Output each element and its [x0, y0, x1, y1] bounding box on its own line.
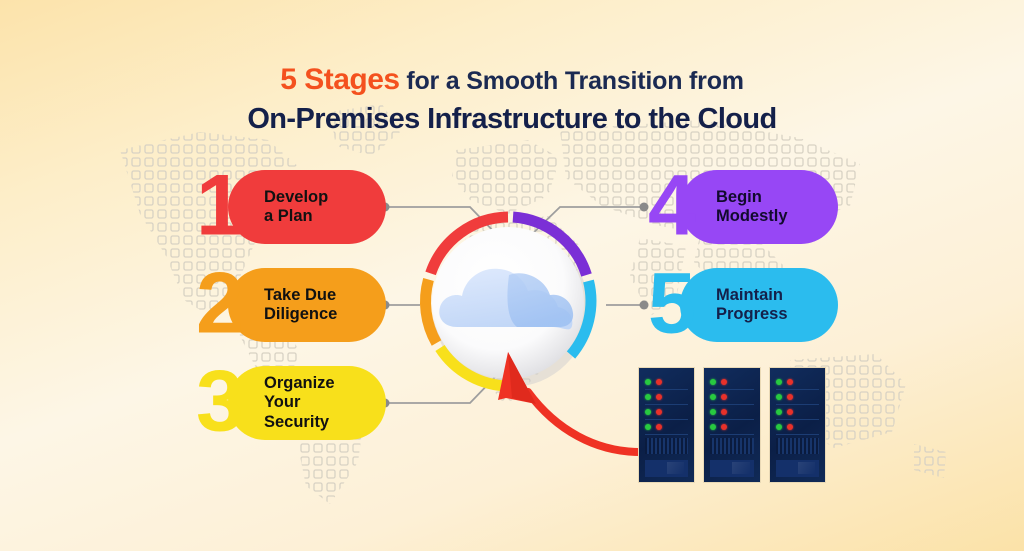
title-line-2: On-Premises Infrastructure to the Cloud	[0, 102, 1024, 137]
led-green-icon	[645, 379, 651, 385]
led-green-icon	[645, 409, 651, 415]
led-red-icon	[656, 424, 662, 430]
rack-vents	[710, 438, 753, 454]
stage-label-1: Develop a Plan	[264, 188, 328, 227]
led-red-icon	[721, 394, 727, 400]
stage-number-2: 2	[196, 260, 240, 346]
rack-vents	[776, 438, 819, 454]
server-rack	[703, 367, 760, 483]
server-racks	[638, 367, 826, 483]
led-green-icon	[776, 379, 782, 385]
stage-item-4[interactable]: 4 Begin Modestly	[648, 170, 838, 244]
page-title: 5 Stages for a Smooth Transition from On…	[0, 62, 1024, 137]
led-green-icon	[710, 409, 716, 415]
led-green-icon	[710, 424, 716, 430]
rack-led-rows	[776, 375, 819, 435]
rack-base	[645, 460, 688, 477]
server-rack	[769, 367, 826, 483]
led-green-icon	[776, 409, 782, 415]
stage-number-3: 3	[196, 358, 240, 444]
led-red-icon	[656, 409, 662, 415]
led-red-icon	[656, 379, 662, 385]
stage-number-1: 1	[196, 162, 240, 248]
stage-item-2[interactable]: 2 Take Due Diligence	[196, 268, 386, 342]
led-red-icon	[656, 394, 662, 400]
led-green-icon	[776, 424, 782, 430]
infographic-canvas: 5 Stages for a Smooth Transition from On…	[0, 0, 1024, 551]
led-red-icon	[787, 409, 793, 415]
rack-base	[776, 460, 819, 477]
title-line-1: 5 Stages for a Smooth Transition from	[0, 62, 1024, 99]
led-red-icon	[721, 379, 727, 385]
led-red-icon	[721, 424, 727, 430]
stage-label-2: Take Due Diligence	[264, 286, 337, 325]
rack-row	[645, 405, 688, 420]
led-green-icon	[710, 394, 716, 400]
led-green-icon	[645, 424, 651, 430]
rack-row	[776, 405, 819, 420]
rack-vents	[645, 438, 688, 454]
rack-led-rows	[645, 375, 688, 435]
led-red-icon	[787, 424, 793, 430]
title-accent: 5 Stages	[280, 63, 399, 96]
led-green-icon	[710, 379, 716, 385]
rack-base	[710, 460, 753, 477]
led-red-icon	[721, 409, 727, 415]
rack-row	[776, 375, 819, 390]
rack-row	[645, 420, 688, 435]
rack-row	[710, 405, 753, 420]
stage-item-5[interactable]: 5 Maintain Progress	[648, 268, 838, 342]
rack-row	[710, 390, 753, 405]
led-green-icon	[776, 394, 782, 400]
stage-label-4: Begin Modestly	[716, 188, 788, 227]
led-red-icon	[787, 394, 793, 400]
rack-row	[776, 390, 819, 405]
server-rack	[638, 367, 695, 483]
rack-row	[645, 375, 688, 390]
stage-number-5: 5	[648, 260, 692, 346]
led-red-icon	[787, 379, 793, 385]
stage-label-3: Organize Your Security	[264, 374, 335, 432]
title-line-1-rest: for a Smooth Transition from	[400, 67, 744, 95]
rack-row	[776, 420, 819, 435]
rack-led-rows	[710, 375, 753, 435]
stage-item-1[interactable]: 1 Develop a Plan	[196, 170, 386, 244]
stage-number-4: 4	[648, 162, 692, 248]
led-green-icon	[645, 394, 651, 400]
rack-row	[710, 420, 753, 435]
rack-row	[645, 390, 688, 405]
stage-label-5: Maintain Progress	[716, 286, 788, 325]
cloud-ring-graphic	[413, 205, 603, 395]
rack-row	[710, 375, 753, 390]
stage-item-3[interactable]: 3 Organize Your Security	[196, 366, 386, 440]
